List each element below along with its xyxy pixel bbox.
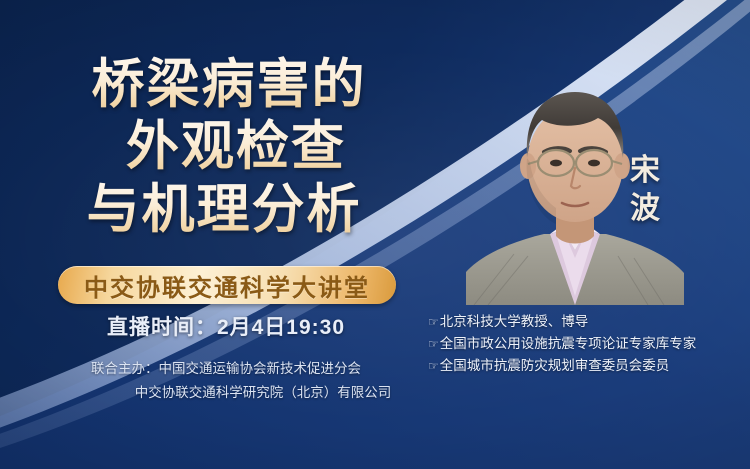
title-line-2: 外观检查 <box>20 118 452 176</box>
speaker-name-char-2: 波 <box>630 190 661 228</box>
series-banner-pill: 中交协联交通科学大讲堂 <box>58 266 396 304</box>
live-time-label: 直播时间：2月4日19:30 <box>0 311 452 341</box>
credential-text: 北京科技大学教授、博导 <box>440 311 589 333</box>
poster-title: 桥梁病害的 外观检查 与机理分析 <box>0 56 452 243</box>
credential-item: ☞ 北京科技大学教授、博导 <box>428 311 696 333</box>
series-banner-label: 中交协联交通科学大讲堂 <box>84 268 370 303</box>
title-line-3: 与机理分析 <box>0 181 452 239</box>
pointing-hand-icon: ☞ <box>428 357 439 376</box>
webinar-poster: 桥梁病害的 外观检查 与机理分析 中交协联交通科学大讲堂 直播时间：2月4日19… <box>0 0 750 469</box>
speaker-name: 宋 波 <box>630 152 661 229</box>
credential-text: 全国城市抗震防灾规划审查委员会委员 <box>440 355 670 377</box>
title-line-1: 桥梁病害的 <box>6 56 452 114</box>
speaker-name-char-1: 宋 <box>630 152 661 190</box>
credential-text: 全国市政公用设施抗震专项论证专家库专家 <box>440 333 697 355</box>
credential-item: ☞ 全国市政公用设施抗震专项论证专家库专家 <box>428 333 696 355</box>
pointing-hand-icon: ☞ <box>428 335 439 354</box>
credential-item: ☞ 全国城市抗震防灾规划审查委员会委员 <box>428 355 696 377</box>
organizer-line-1: 联合主办：中国交通运输协会新技术促进分会 <box>0 357 452 381</box>
organizers-block: 联合主办：中国交通运输协会新技术促进分会 中交协联交通科学研究院（北京）有限公司 <box>0 357 452 404</box>
speaker-portrait-svg <box>452 58 698 305</box>
organizer-line-2: 中交协联交通科学研究院（北京）有限公司 <box>0 381 452 405</box>
series-banner: 中交协联交通科学大讲堂 <box>58 266 396 304</box>
speaker-photo <box>452 58 698 305</box>
pointing-hand-icon: ☞ <box>428 313 439 332</box>
speaker-credentials: ☞ 北京科技大学教授、博导 ☞ 全国市政公用设施抗震专项论证专家库专家 ☞ 全国… <box>428 311 696 377</box>
